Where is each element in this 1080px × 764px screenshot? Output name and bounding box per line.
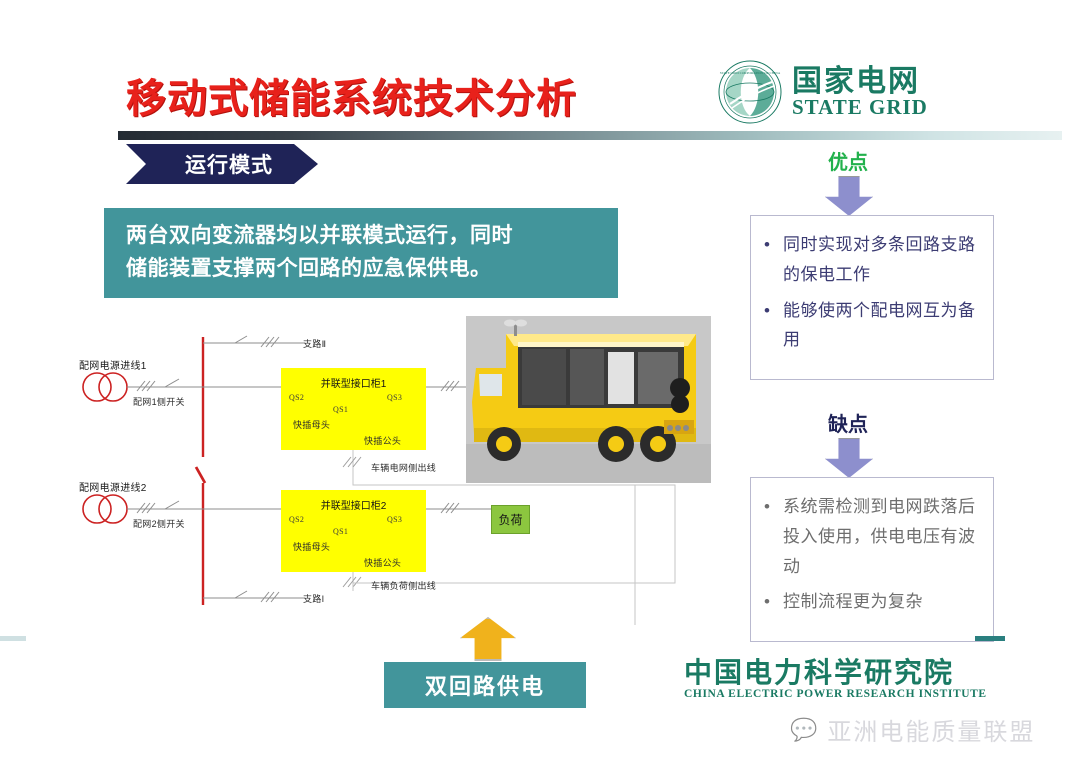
statement-box: 两台双向变流器均以并联模式运行，同时 储能装置支撑两个回路的应急保供电。 xyxy=(104,208,618,298)
state-grid-name-cn: 国家电网 xyxy=(792,67,928,97)
feeder-1-label: 配网电源进线1 xyxy=(79,357,147,372)
pros-heading: 优点 xyxy=(733,146,963,175)
branch-top-label: 支路Ⅱ xyxy=(303,337,326,350)
qs1-label-2: QS1 xyxy=(333,527,348,536)
female-connector-label-2: 快插母头 xyxy=(293,540,330,553)
decor-edge-right xyxy=(975,636,1005,641)
qs1-label-1: QS1 xyxy=(333,405,348,414)
cons-down-arrow-icon xyxy=(825,438,873,478)
section-tag-banner: 运行模式 xyxy=(126,144,318,184)
decor-edge-left xyxy=(0,636,26,641)
pros-box: 同时实现对多条回路支路的保电工作 能够使两个配电网互为备用 xyxy=(750,215,994,380)
wechat-icon: 💬 xyxy=(790,717,819,743)
slide-canvas: 移动式储能系统技术分析 运行模式 STATE GRID CORPORATION … xyxy=(0,0,1080,764)
qs2-label-2: QS2 xyxy=(289,515,304,524)
cabinet-2-title: 并联型接口柜2 xyxy=(281,497,426,512)
pros-list: 同时实现对多条回路支路的保电工作 能够使两个配电网互为备用 xyxy=(757,230,983,355)
cepri-name-cn: 中国电力科学研究院 xyxy=(684,658,987,687)
watermark: 💬 亚洲电能质量联盟 xyxy=(790,712,1035,747)
cons-list: 系统需检测到电网跌落后投入使用，供电电压有波动 控制流程更为复杂 xyxy=(757,492,983,617)
state-grid-logo: STATE GRID CORPORATION OF CHINA 国家电网 STA… xyxy=(718,57,968,127)
header-divider xyxy=(118,131,1062,140)
bottom-banner-label: 双回路供电 xyxy=(425,669,545,701)
state-grid-globe-emblem: STATE GRID CORPORATION OF CHINA xyxy=(718,60,782,124)
svg-text:STATE GRID CORPORATION OF CHIN: STATE GRID CORPORATION OF CHINA xyxy=(720,71,781,75)
list-item: 控制流程更为复杂 xyxy=(757,587,983,617)
list-item: 同时实现对多条回路支路的保电工作 xyxy=(757,230,983,290)
pros-down-arrow-icon xyxy=(825,176,873,216)
male-connector-label-1: 快插公头 xyxy=(364,434,401,447)
qs3-label-1: QS3 xyxy=(387,393,402,402)
cepri-logo: 中国电力科学研究院 CHINA ELECTRIC POWER RESEARCH … xyxy=(684,658,987,700)
switch-1-label: 配网1侧开关 xyxy=(133,395,185,408)
interface-cabinet-1: 并联型接口柜1 xyxy=(281,368,426,450)
male-connector-label-2: 快插公头 xyxy=(364,556,401,569)
list-item: 能够使两个配电网互为备用 xyxy=(757,296,983,356)
section-tag-label: 运行模式 xyxy=(171,149,273,179)
female-connector-label-1: 快插母头 xyxy=(293,418,330,431)
grid-side-outlet-label: 车辆电网侧出线 xyxy=(371,461,436,474)
interface-cabinet-2: 并联型接口柜2 xyxy=(281,490,426,572)
statement-line-2: 储能装置支撑两个回路的应急保供电。 xyxy=(126,253,596,286)
page-title: 移动式储能系统技术分析 xyxy=(126,66,577,124)
load-side-outlet-label: 车辆负荷侧出线 xyxy=(371,579,436,592)
feeder-2-label: 配网电源进线2 xyxy=(79,479,147,494)
branch-bottom-label: 支路I xyxy=(303,592,324,605)
load-box-2: 负荷 xyxy=(491,505,530,534)
cabinet-1-title: 并联型接口柜1 xyxy=(281,375,426,390)
mobile-energy-storage-truck-photo xyxy=(466,316,711,483)
cons-box: 系统需检测到电网跌落后投入使用，供电电压有波动 控制流程更为复杂 xyxy=(750,477,994,642)
cons-heading: 缺点 xyxy=(733,408,963,437)
statement-line-1: 两台双向变流器均以并联模式运行，同时 xyxy=(126,220,596,253)
watermark-label: 亚洲电能质量联盟 xyxy=(827,712,1035,747)
state-grid-name-en: STATE GRID xyxy=(792,97,928,118)
switch-2-label: 配网2侧开关 xyxy=(133,517,185,530)
qs3-label-2: QS3 xyxy=(387,515,402,524)
qs2-label-1: QS2 xyxy=(289,393,304,402)
list-item: 系统需检测到电网跌落后投入使用，供电电压有波动 xyxy=(757,492,983,581)
cepri-name-en: CHINA ELECTRIC POWER RESEARCH INSTITUTE xyxy=(684,688,987,700)
bottom-banner: 双回路供电 xyxy=(384,662,586,708)
